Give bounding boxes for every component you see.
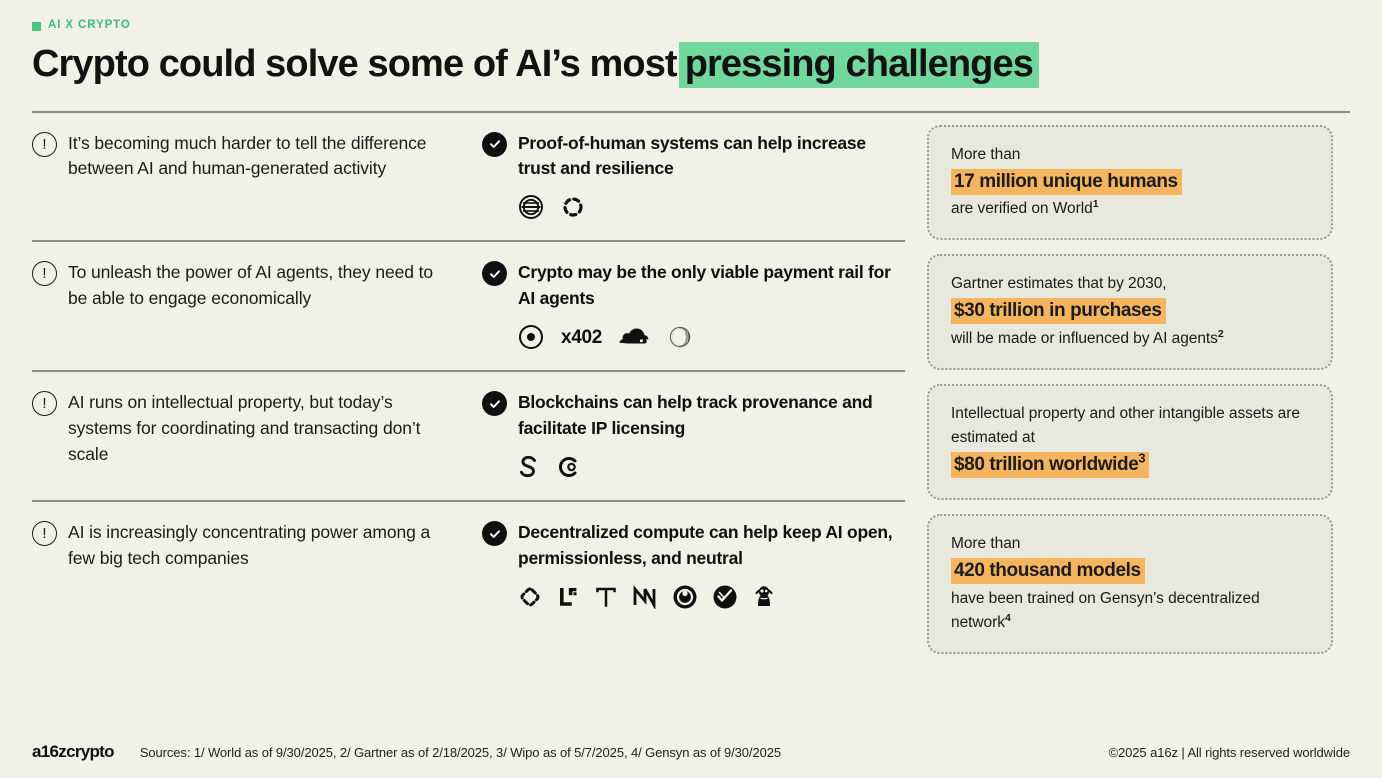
bracket-mark-logo <box>556 585 580 609</box>
stat-card: Intellectual property and other intangib… <box>927 384 1333 500</box>
check-circle-icon <box>482 391 507 416</box>
partner-logo-row <box>518 192 907 222</box>
title-plain: Crypto could solve some of AI’s most <box>32 43 677 85</box>
footer-copyright: ©2025 a16z | All rights reserved worldwi… <box>1109 745 1350 760</box>
solution-cell: Decentralized compute can help keep AI o… <box>482 500 927 612</box>
solution-cell: Blockchains can help track provenance an… <box>482 370 927 482</box>
stat-highlight: $80 trillion worldwide3 <box>951 452 1149 478</box>
target-ring-logo <box>672 584 698 610</box>
solution-text: Decentralized compute can help keep AI o… <box>518 520 907 571</box>
stat-lead: More than <box>951 532 1311 556</box>
page-title: Crypto could solve some of AI’s mostpres… <box>32 43 1350 86</box>
a16zcrypto-logo: a16zcrypto <box>32 742 114 762</box>
story-protocol-logo <box>518 454 540 480</box>
stat-lead: Intellectual property and other intangib… <box>951 402 1311 450</box>
exclamation-icon: ! <box>32 391 57 416</box>
title-highlight: pressing challenges <box>679 42 1039 88</box>
solution-cell: Proof-of-human systems can help increase… <box>482 111 927 223</box>
partner-logo-row <box>518 582 907 612</box>
problem-cell: ! AI runs on intellectual property, but … <box>32 370 482 467</box>
dashed-ring-logo <box>561 195 585 219</box>
stat-card: More than 17 million unique humans are v… <box>927 125 1333 241</box>
footer-sources: Sources: 1/ World as of 9/30/2025, 2/ Ga… <box>140 745 1109 760</box>
stat-highlight: $30 trillion in purchases <box>951 298 1166 324</box>
stat-card: Gartner estimates that by 2030, $30 tril… <box>927 254 1333 370</box>
stat-footnote: 2 <box>1218 328 1224 340</box>
stat-highlight-line: 420 thousand models <box>951 558 1311 584</box>
rows-container: ! It’s becoming much harder to tell the … <box>32 111 1350 654</box>
problem-text: It’s becoming much harder to tell the di… <box>68 131 454 182</box>
stat-trail: will be made or influenced by AI agents <box>951 330 1218 347</box>
solution-cell: Crypto may be the only viable payment ra… <box>482 240 927 352</box>
problem-text: To unleash the power of AI agents, they … <box>68 260 454 311</box>
eyebrow: AI X CRYPTO <box>32 0 1350 26</box>
slide-canvas: AI X CRYPTO Crypto could solve some of A… <box>0 0 1382 778</box>
solution-text: Crypto may be the only viable payment ra… <box>518 260 907 311</box>
stat-card: More than 420 thousand models have been … <box>927 514 1333 654</box>
check-circle-icon <box>482 261 507 286</box>
exclamation-icon: ! <box>32 521 57 546</box>
square-bullet-icon <box>32 22 41 31</box>
footer: a16zcrypto Sources: 1/ World as of 9/30/… <box>32 742 1350 762</box>
stat-lead: Gartner estimates that by 2030, <box>951 272 1311 296</box>
x402-wordmark: x402 <box>561 328 602 347</box>
exclamation-icon: ! <box>32 261 57 286</box>
stat-highlight-line: $80 trillion worldwide3 <box>951 452 1311 478</box>
prime-intellect-logo <box>712 584 738 610</box>
solution-text: Blockchains can help track provenance an… <box>518 390 907 441</box>
row-divider <box>32 370 905 372</box>
stat-highlight-text: $80 trillion worldwide <box>954 454 1138 475</box>
solution-text: Proof-of-human systems can help increase… <box>518 131 907 182</box>
stat-cell: More than 420 thousand models have been … <box>927 500 1350 654</box>
problem-cell: ! It’s becoming much harder to tell the … <box>32 111 482 182</box>
stat-trail: are verified on World <box>951 200 1093 217</box>
stat-highlight: 420 thousand models <box>951 558 1145 584</box>
striped-moon-logo <box>668 325 692 349</box>
stat-footnote: 4 <box>1005 612 1011 624</box>
stat-cell: Gartner estimates that by 2030, $30 tril… <box>927 240 1350 370</box>
stat-trail-line: have been trained on Gensyn’s decentrali… <box>951 587 1311 635</box>
world-globe-logo <box>518 194 544 220</box>
nous-research-logo <box>632 585 658 609</box>
cloudflare-cloud-logo <box>619 326 651 348</box>
check-circle-icon <box>482 132 507 157</box>
stat-cell: More than 17 million unique humans are v… <box>927 111 1350 241</box>
check-circle-icon <box>482 521 507 546</box>
stat-trail-line: will be made or influenced by AI agents2 <box>951 327 1311 351</box>
stat-trail-line: are verified on World1 <box>951 197 1311 221</box>
dotted-diamond-logo <box>518 585 542 609</box>
gensyn-mascot-logo <box>752 584 776 610</box>
coinbase-circle-logo <box>518 324 544 350</box>
partner-logo-row <box>518 452 907 482</box>
stat-footnote: 1 <box>1093 198 1099 210</box>
together-t-logo <box>594 585 618 609</box>
stat-highlight: 17 million unique humans <box>951 169 1182 195</box>
problem-cell: ! AI is increasingly concentrating power… <box>32 500 482 571</box>
exclamation-icon: ! <box>32 132 57 157</box>
eyebrow-label: AI X CRYPTO <box>48 20 131 32</box>
stat-trail: have been trained on Gensyn’s decentrali… <box>951 590 1260 631</box>
stat-highlight-line: $30 trillion in purchases <box>951 298 1311 324</box>
table-row: ! It’s becoming much harder to tell the … <box>32 111 1350 241</box>
camp-network-logo <box>557 454 581 480</box>
row-divider <box>32 111 1350 113</box>
table-row: ! To unleash the power of AI agents, the… <box>32 240 1350 370</box>
stat-highlight-line: 17 million unique humans <box>951 169 1311 195</box>
problem-cell: ! To unleash the power of AI agents, the… <box>32 240 482 311</box>
problem-text: AI is increasingly concentrating power a… <box>68 520 454 571</box>
partner-logo-row: x402 <box>518 322 907 352</box>
table-row: ! AI runs on intellectual property, but … <box>32 370 1350 500</box>
stat-cell: Intellectual property and other intangib… <box>927 370 1350 500</box>
row-divider <box>32 500 905 502</box>
stat-footnote: 3 <box>1138 451 1145 466</box>
table-row: ! AI is increasingly concentrating power… <box>32 500 1350 654</box>
row-divider <box>32 240 905 242</box>
stat-lead: More than <box>951 143 1311 167</box>
problem-text: AI runs on intellectual property, but to… <box>68 390 454 467</box>
